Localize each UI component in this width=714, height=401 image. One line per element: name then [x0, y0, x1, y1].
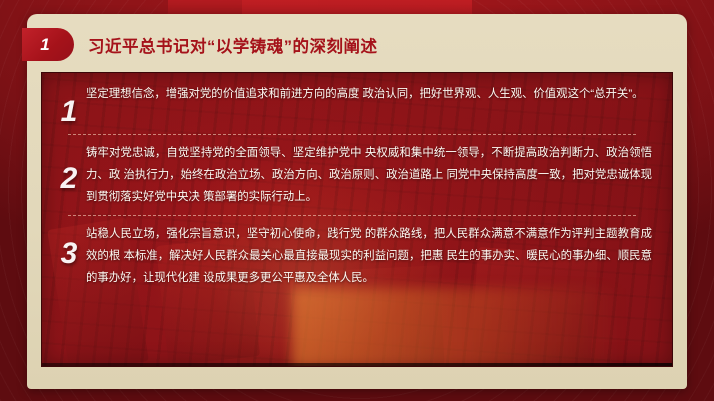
divider — [68, 215, 636, 216]
list-item-number: 3 — [52, 223, 86, 269]
page-title: 习近平总书记对“以学铸魂”的深刻阐述 — [88, 33, 378, 57]
list-item-number: 1 — [52, 83, 86, 127]
card-header: 1 习近平总书记对“以学铸魂”的深刻阐述 — [27, 28, 378, 61]
list-item: 1 坚定理想信念，增强对党的价值追求和前进方向的高度 政治认同，把好世界观、人生… — [52, 83, 656, 127]
content-panel: 1 坚定理想信念，增强对党的价值追求和前进方向的高度 政治认同，把好世界观、人生… — [41, 72, 673, 367]
warm-light-wash — [292, 288, 622, 367]
slide-canvas: 1 习近平总书记对“以学铸魂”的深刻阐述 1 坚定理想信念，增强对党的价值追求和… — [0, 0, 714, 401]
list-item: 2 铸牢对党忠诚，自觉坚持党的全面领导、坚定维护党中 央权威和集中统一领导，不断… — [52, 142, 656, 208]
points-list: 1 坚定理想信念，增强对党的价值追求和前进方向的高度 政治认同，把好世界观、人生… — [42, 73, 672, 289]
list-item: 3 站稳人民立场，强化宗旨意识，坚守初心使命，践行党 的群众路线，把人民群众满意… — [52, 223, 656, 289]
list-item-text: 坚定理想信念，增强对党的价值追求和前进方向的高度 政治认同，把好世界观、人生观、… — [86, 83, 656, 105]
content-card: 1 习近平总书记对“以学铸魂”的深刻阐述 1 坚定理想信念，增强对党的价值追求和… — [27, 14, 687, 389]
list-item-text: 铸牢对党忠诚，自觉坚持党的全面领导、坚定维护党中 央权威和集中统一领导，不断提高… — [86, 142, 656, 208]
list-item-text: 站稳人民立场，强化宗旨意识，坚守初心使命，践行党 的群众路线，把人民群众满意不满… — [86, 223, 656, 289]
panel-bottom-line — [42, 363, 672, 366]
section-number-badge: 1 — [22, 28, 74, 61]
divider — [68, 134, 636, 135]
list-item-number: 2 — [52, 142, 86, 194]
